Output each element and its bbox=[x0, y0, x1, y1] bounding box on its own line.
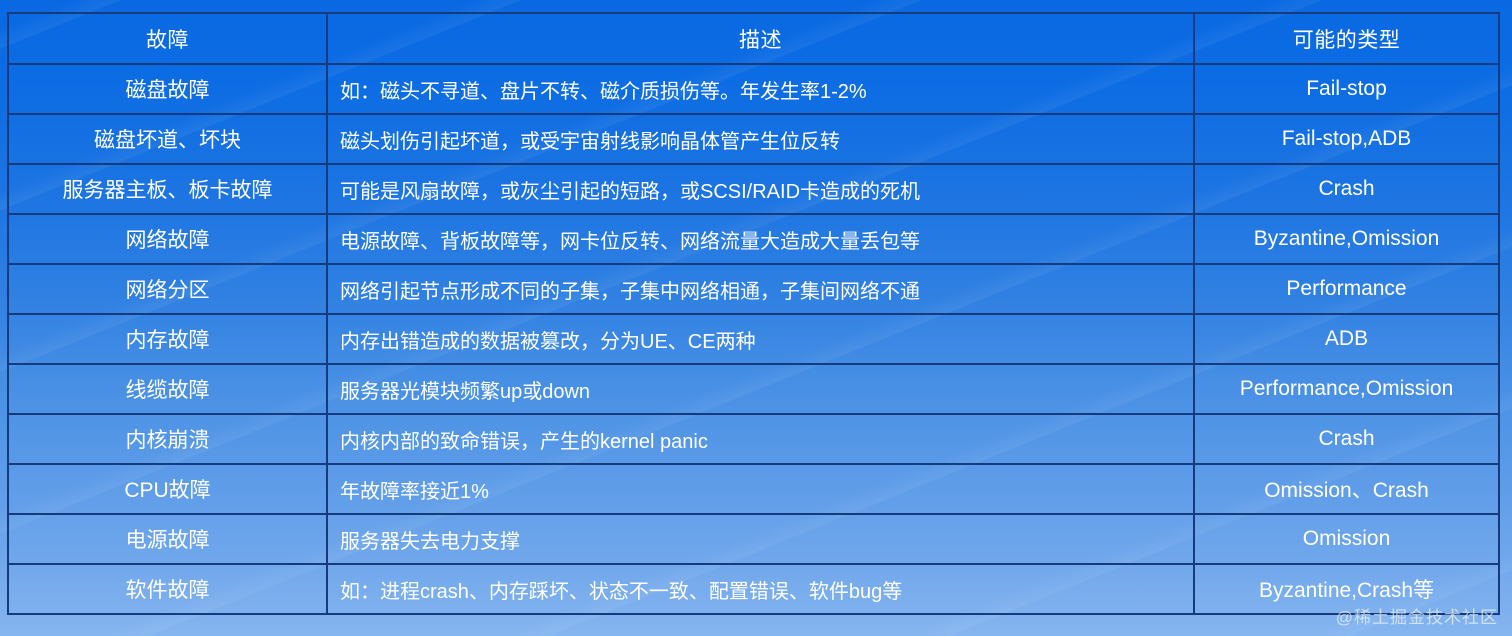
cell-description: 服务器光模块频繁up或down bbox=[327, 364, 1194, 414]
cell-description: 磁头划伤引起坏道，或受宇宙射线影响晶体管产生位反转 bbox=[327, 114, 1194, 164]
cell-type: Performance bbox=[1194, 264, 1499, 314]
page-root: 故障 描述 可能的类型 磁盘故障 如：磁头不寻道、盘片不转、磁介质损伤等。年发生… bbox=[0, 0, 1512, 636]
table-row: 服务器主板、板卡故障 可能是风扇故障，或灰尘引起的短路，或SCSI/RAID卡造… bbox=[8, 164, 1499, 214]
cell-type: Performance,Omission bbox=[1194, 364, 1499, 414]
cell-fault: 网络分区 bbox=[8, 264, 327, 314]
table-row: 网络故障 电源故障、背板故障等，网卡位反转、网络流量大造成大量丢包等 Byzan… bbox=[8, 214, 1499, 264]
cell-fault: 磁盘坏道、坏块 bbox=[8, 114, 327, 164]
table-row: 网络分区 网络引起节点形成不同的子集，子集中网络相通，子集间网络不通 Perfo… bbox=[8, 264, 1499, 314]
cell-type: Crash bbox=[1194, 164, 1499, 214]
table-row: 磁盘故障 如：磁头不寻道、盘片不转、磁介质损伤等。年发生率1-2% Fail-s… bbox=[8, 64, 1499, 114]
cell-fault: 服务器主板、板卡故障 bbox=[8, 164, 327, 214]
table-header-row: 故障 描述 可能的类型 bbox=[8, 13, 1499, 64]
cell-type: Omission、Crash bbox=[1194, 464, 1499, 514]
table-row: 电源故障 服务器失去电力支撑 Omission bbox=[8, 514, 1499, 564]
cell-fault: 软件故障 bbox=[8, 564, 327, 614]
column-header-description: 描述 bbox=[327, 13, 1194, 64]
fault-types-table: 故障 描述 可能的类型 磁盘故障 如：磁头不寻道、盘片不转、磁介质损伤等。年发生… bbox=[7, 12, 1500, 615]
cell-type: Crash bbox=[1194, 414, 1499, 464]
cell-type: ADB bbox=[1194, 314, 1499, 364]
cell-fault: CPU故障 bbox=[8, 464, 327, 514]
cell-description: 如：进程crash、内存踩坏、状态不一致、配置错误、软件bug等 bbox=[327, 564, 1194, 614]
cell-fault: 磁盘故障 bbox=[8, 64, 327, 114]
cell-fault: 内核崩溃 bbox=[8, 414, 327, 464]
cell-description: 如：磁头不寻道、盘片不转、磁介质损伤等。年发生率1-2% bbox=[327, 64, 1194, 114]
table-row: 软件故障 如：进程crash、内存踩坏、状态不一致、配置错误、软件bug等 By… bbox=[8, 564, 1499, 614]
cell-description: 年故障率接近1% bbox=[327, 464, 1194, 514]
cell-description: 可能是风扇故障，或灰尘引起的短路，或SCSI/RAID卡造成的死机 bbox=[327, 164, 1194, 214]
cell-description: 内存出错造成的数据被篡改，分为UE、CE两种 bbox=[327, 314, 1194, 364]
table-row: 内核崩溃 内核内部的致命错误，产生的kernel panic Crash bbox=[8, 414, 1499, 464]
cell-description: 服务器失去电力支撑 bbox=[327, 514, 1194, 564]
column-header-type: 可能的类型 bbox=[1194, 13, 1499, 64]
table-row: CPU故障 年故障率接近1% Omission、Crash bbox=[8, 464, 1499, 514]
column-header-fault: 故障 bbox=[8, 13, 327, 64]
cell-type: Fail-stop bbox=[1194, 64, 1499, 114]
cell-fault: 内存故障 bbox=[8, 314, 327, 364]
cell-fault: 电源故障 bbox=[8, 514, 327, 564]
cell-description: 网络引起节点形成不同的子集，子集中网络相通，子集间网络不通 bbox=[327, 264, 1194, 314]
cell-type: Fail-stop,ADB bbox=[1194, 114, 1499, 164]
table-row: 线缆故障 服务器光模块频繁up或down Performance,Omissio… bbox=[8, 364, 1499, 414]
cell-description: 内核内部的致命错误，产生的kernel panic bbox=[327, 414, 1194, 464]
table-row: 磁盘坏道、坏块 磁头划伤引起坏道，或受宇宙射线影响晶体管产生位反转 Fail-s… bbox=[8, 114, 1499, 164]
table-row: 内存故障 内存出错造成的数据被篡改，分为UE、CE两种 ADB bbox=[8, 314, 1499, 364]
cell-type: Omission bbox=[1194, 514, 1499, 564]
cell-type: Byzantine,Crash等 bbox=[1194, 564, 1499, 614]
cell-fault: 网络故障 bbox=[8, 214, 327, 264]
cell-fault: 线缆故障 bbox=[8, 364, 327, 414]
cell-description: 电源故障、背板故障等，网卡位反转、网络流量大造成大量丢包等 bbox=[327, 214, 1194, 264]
cell-type: Byzantine,Omission bbox=[1194, 214, 1499, 264]
